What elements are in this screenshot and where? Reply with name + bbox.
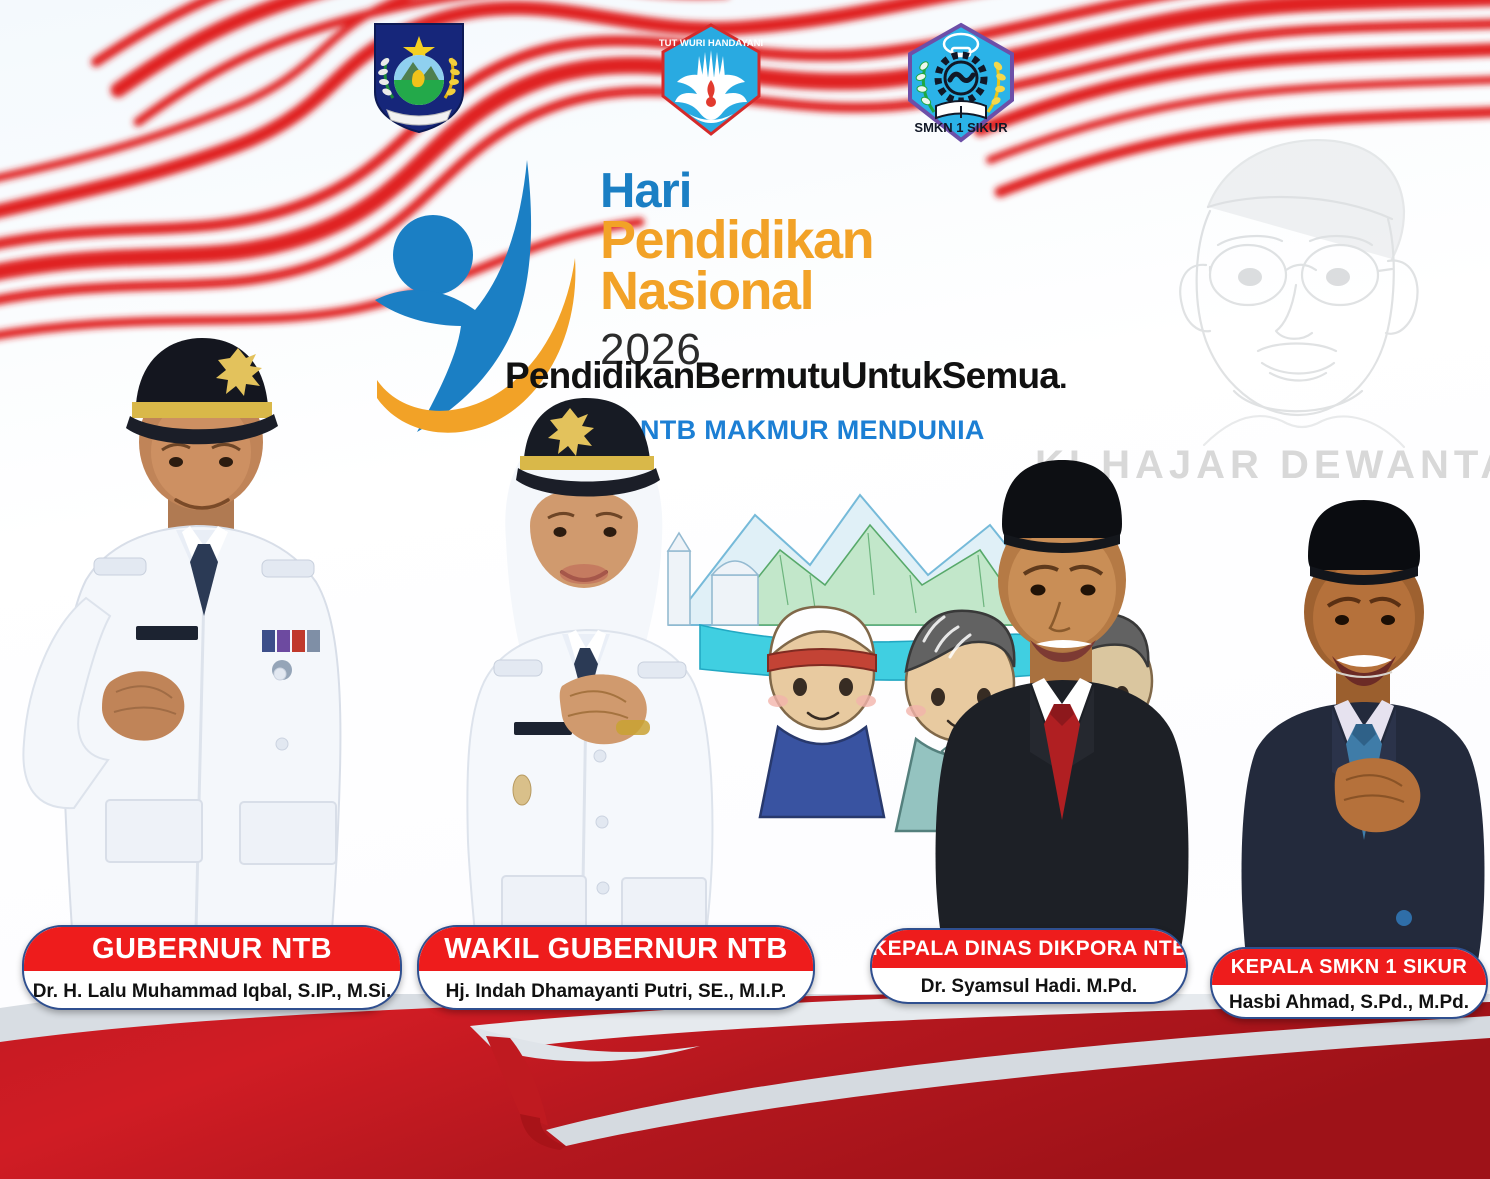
vice-governor-title: WAKIL GUBERNUR NTB [419,927,813,971]
school-principal-nameplate: KEPALA SMKN 1 SIKUR Hasbi Ahmad, S.Pd., … [1210,947,1488,1019]
svg-text:TUT WURI HANDAYANI: TUT WURI HANDAYANI [659,38,763,49]
governor-nameplate: GUBERNUR NTB Dr. H. Lalu Muhammad Iqbal,… [22,925,402,1010]
dikpora-head-title: KEPALA DINAS DIKPORA NTB [872,930,1186,968]
headline-pendidikan: Pendidikan [600,215,1120,266]
tagline-period: . [1059,362,1067,395]
school-principal-name: Hasbi Ahmad, S.Pd., M.Pd. [1212,985,1486,1019]
vice-governor-name: Hj. Indah Dhamayanti Putri, SE., M.I.P. [419,971,813,1010]
smkn-1-sikur-logo: SMKN 1 SIKUR [902,22,1020,144]
ki-hajar-dewantara-portrait [1130,115,1480,465]
governor-title: GUBERNUR NTB [24,927,400,971]
governor-photo [0,330,410,950]
dikpora-head-name: Dr. Syamsul Hadi. M.Pd. [872,968,1186,1004]
vice-governor-photo [410,390,760,950]
ntb-provincial-emblem-logo [365,18,473,136]
school-principal-title: KEPALA SMKN 1 SIKUR [1212,949,1486,985]
tut-wuri-handayani-logo: TUT WURI HANDAYANI [655,22,767,138]
school-principal-photo [1236,500,1490,970]
governor-name: Dr. H. Lalu Muhammad Iqbal, S.IP., M.Si. [24,971,400,1010]
poster-canvas: TUT WURI HANDAYANI [0,0,1490,1179]
headline-nasional: Nasional [600,266,1120,317]
dikpora-head-nameplate: KEPALA DINAS DIKPORA NTB Dr. Syamsul Had… [870,928,1188,1004]
headline-hari: Hari [600,168,1120,215]
dikpora-head-photo [912,452,1212,952]
svg-text:SMKN 1 SIKUR: SMKN 1 SIKUR [914,120,1008,135]
red-ribbon-bottom [0,994,1490,1179]
vice-governor-nameplate: WAKIL GUBERNUR NTB Hj. Indah Dhamayanti … [417,925,815,1010]
headline-block: Hari Pendidikan Nasional 2026 [600,168,1120,376]
